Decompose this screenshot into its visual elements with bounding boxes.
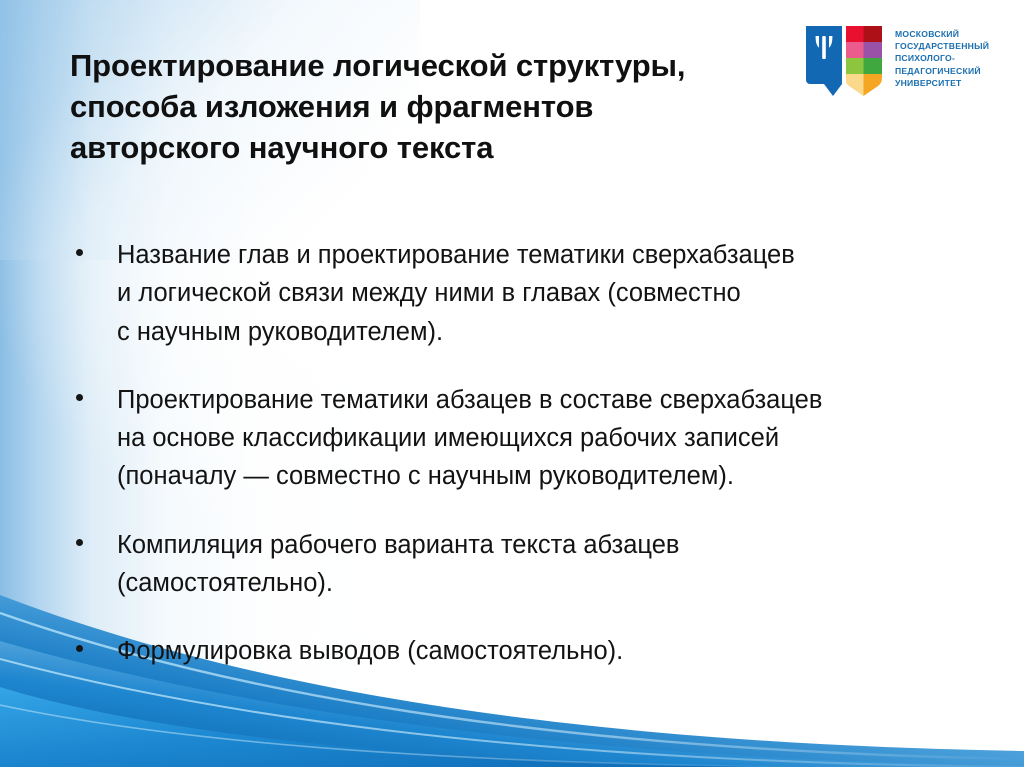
logo-text-line-1: МОСКОВСКИЙ	[895, 28, 989, 40]
presentation-slide: Проектирование логической структуры, спо…	[0, 0, 1024, 767]
page-title: Проектирование логической структуры, спо…	[70, 46, 770, 169]
bullet-1-line-3: с научным руководителем).	[117, 313, 962, 351]
title-line-1: Проектирование логической структуры,	[70, 46, 770, 87]
bullet-2-line-2: на основе классификации имеющихся рабочи…	[117, 419, 962, 457]
title-line-2: способа изложения и фрагментов	[70, 87, 770, 128]
list-item: Формулировка выводов (самостоятельно).	[72, 632, 962, 670]
logo-text-line-3: ПСИХОЛОГО-	[895, 52, 989, 64]
bullet-text: Компиляция рабочего варианта текста абза…	[117, 526, 962, 603]
bullet-dot-icon	[76, 645, 83, 652]
slide-title-block: Проектирование логической структуры, спо…	[70, 46, 770, 169]
bullet-dot-icon	[76, 394, 83, 401]
university-logo: МОСКОВСКИЙ ГОСУДАРСТВЕННЫЙ ПСИХОЛОГО- ПЕ…	[802, 22, 989, 100]
logo-text-line-2: ГОСУДАРСТВЕННЫЙ	[895, 40, 989, 52]
bullet-dot-icon	[76, 249, 83, 256]
logo-text-line-5: УНИВЕРСИТЕТ	[895, 77, 989, 89]
list-item: Компиляция рабочего варианта текста абза…	[72, 526, 962, 603]
bullet-2-line-1: Проектирование тематики абзацев в состав…	[117, 381, 962, 419]
bullet-text: Проектирование тематики абзацев в состав…	[117, 381, 962, 496]
list-item: Проектирование тематики абзацев в состав…	[72, 381, 962, 496]
bullet-text: Название глав и проектирование тематики …	[117, 236, 962, 351]
bullet-3-line-1: Компиляция рабочего варианта текста абза…	[117, 526, 962, 564]
bullet-2-line-3: (поначалу — совместно с научным руководи…	[117, 457, 962, 495]
bullet-4-line-1: Формулировка выводов (самостоятельно).	[117, 632, 962, 670]
university-logo-text: МОСКОВСКИЙ ГОСУДАРСТВЕННЫЙ ПСИХОЛОГО- ПЕ…	[895, 22, 989, 89]
slide-bullet-list: Название глав и проектирование тематики …	[72, 236, 962, 670]
logo-text-line-4: ПЕДАГОГИЧЕСКИЙ	[895, 65, 989, 77]
bullet-3-line-2: (самостоятельно).	[117, 564, 962, 602]
bullet-1-line-2: и логической связи между ними в главах (…	[117, 274, 962, 312]
mgppu-emblem-icon	[802, 22, 886, 100]
title-line-3: авторского научного текста	[70, 128, 770, 169]
bullet-1-line-1: Название глав и проектирование тематики …	[117, 236, 962, 274]
list-item: Название глав и проектирование тематики …	[72, 236, 962, 351]
bullet-dot-icon	[76, 539, 83, 546]
bullet-text: Формулировка выводов (самостоятельно).	[117, 632, 962, 670]
